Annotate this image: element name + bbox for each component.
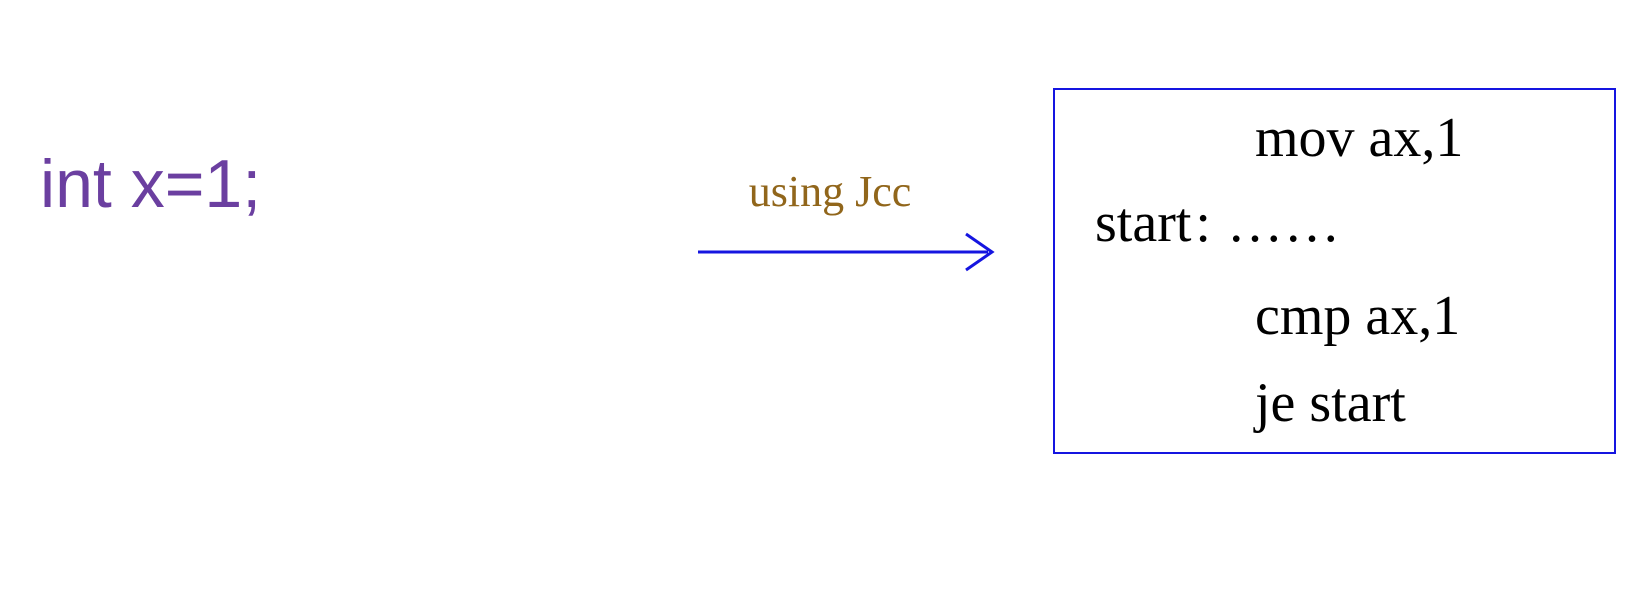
c-code-line-blank: [40, 367, 680, 445]
c-code-line: do{: [40, 581, 680, 592]
c-code-block: int x=1; do{ //Do something! } while(x==…: [40, 0, 680, 592]
slide-canvas: int x=1; do{ //Do something! } while(x==…: [0, 0, 1648, 592]
assembly-label: start: [1095, 195, 1191, 251]
assembly-code-list: mov ax,1 start : …… cmp ax,1 je start: [1055, 90, 1614, 452]
transition-group: using Jcc: [660, 170, 1010, 290]
assembly-code-box: mov ax,1 start : …… cmp ax,1 je start: [1053, 88, 1616, 454]
assembly-instruction: mov ax,1: [1255, 110, 1463, 166]
assembly-instruction: je start: [1255, 375, 1406, 431]
assembly-line: mov ax,1: [1255, 110, 1463, 166]
right-arrow-icon: [688, 228, 1008, 276]
assembly-line: je start: [1255, 375, 1406, 431]
assembly-label-colon: :: [1191, 195, 1213, 251]
assembly-line-label: start : ……: [1095, 195, 1341, 251]
transition-label: using Jcc: [660, 170, 1000, 214]
assembly-line: cmp ax,1: [1255, 288, 1460, 344]
assembly-ellipsis: ……: [1213, 195, 1341, 251]
assembly-instruction: cmp ax,1: [1255, 288, 1460, 344]
c-code-line: int x=1;: [40, 136, 680, 231]
